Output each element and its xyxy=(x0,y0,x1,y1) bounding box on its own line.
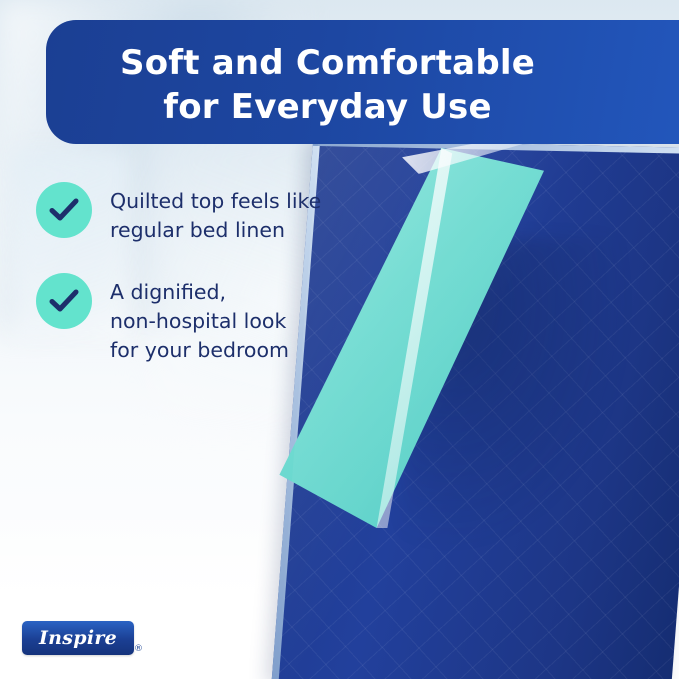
check-icon xyxy=(36,182,92,238)
list-item-label: Quilted top feels like regular bed linen xyxy=(110,182,321,245)
headline-line-1: Soft and Comfortable xyxy=(46,42,609,86)
headline-text: Soft and Comfortable for Everyday Use xyxy=(46,42,679,129)
headline-banner: Soft and Comfortable for Everyday Use xyxy=(46,20,679,144)
brand-logo-text: Inspire xyxy=(39,627,117,649)
headline-line-2: for Everyday Use xyxy=(46,86,609,130)
check-icon xyxy=(36,273,92,329)
brand-logo: Inspire ® xyxy=(22,621,134,655)
product-infographic: Soft and Comfortable for Everyday Use Qu… xyxy=(0,0,679,679)
list-item: Quilted top feels like regular bed linen xyxy=(36,182,366,245)
brand-trademark-symbol: ® xyxy=(134,644,143,654)
list-item-label: A dignified, non-hospital look for your … xyxy=(110,273,289,365)
feature-bullet-list: Quilted top feels like regular bed linen… xyxy=(36,182,366,394)
list-item: A dignified, non-hospital look for your … xyxy=(36,273,366,365)
